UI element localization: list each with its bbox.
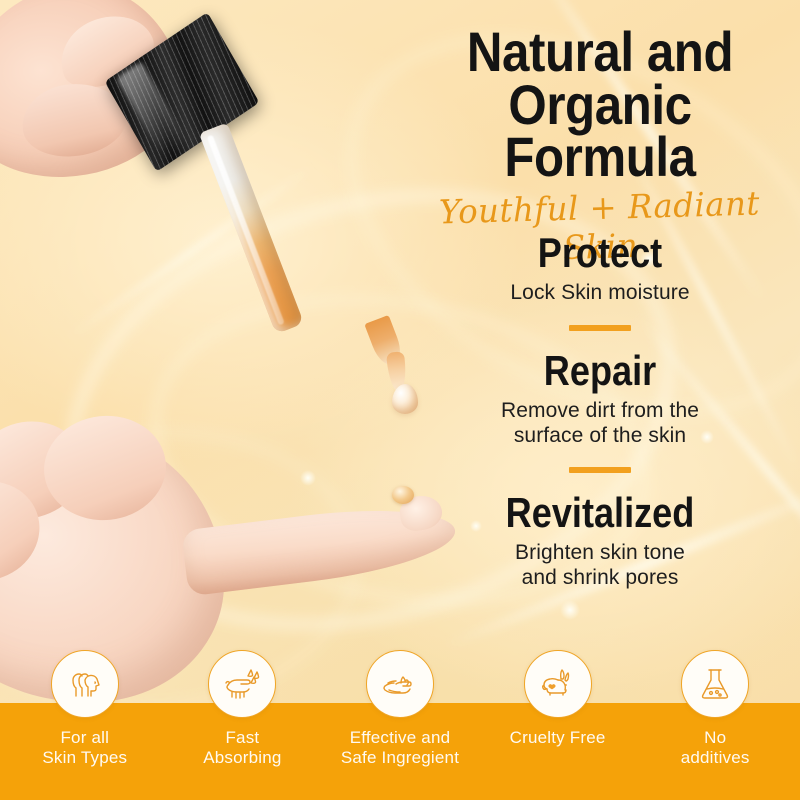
hand-with-cream-icon <box>379 663 421 705</box>
badge-icon-circle <box>366 650 434 718</box>
benefits-list: Protect Lock Skin moisture Repair Remove… <box>400 232 800 591</box>
benefit-title: Protect <box>428 232 772 274</box>
badge-label-line-1: Effective and <box>350 728 451 747</box>
benefit-item-repair: Repair Remove dirt from the surface of t… <box>400 350 800 449</box>
hand-with-droplets-icon <box>221 663 263 705</box>
badge-label-line-2: Skin Types <box>42 748 127 767</box>
feature-badges-row: For all Skin Types Fast Absorbing <box>0 650 800 800</box>
badge-label-line-1: Cruelty Free <box>510 728 606 747</box>
page-title: Natural and Organic Formula <box>424 0 776 184</box>
badge-label-line-2: Absorbing <box>203 748 281 767</box>
badge-label: For all Skin Types <box>10 728 160 767</box>
headline-line-2: Organic Formula <box>424 79 776 184</box>
badge-label: No additives <box>640 728 790 767</box>
badge-label: Fast Absorbing <box>167 728 317 767</box>
badge-fast-absorbing: Fast Absorbing <box>167 650 317 767</box>
badge-icon-circle <box>208 650 276 718</box>
badge-icon-circle <box>681 650 749 718</box>
benefit-description: Remove dirt from the surface of the skin <box>400 399 800 449</box>
dropper-glass-tube <box>199 123 304 334</box>
badge-icon-circle <box>524 650 592 718</box>
glass-highlight <box>207 135 285 326</box>
product-infographic-poster: Natural and Organic Formula Youthful + R… <box>0 0 800 800</box>
benefit-description: Lock Skin moisture <box>400 281 800 306</box>
badge-no-additives: No additives <box>640 650 790 767</box>
badge-label: Effective and Safe Ingregient <box>325 728 475 767</box>
badge-effective-safe-ingredient: Effective and Safe Ingregient <box>325 650 475 767</box>
rabbit-heart-icon <box>537 663 579 705</box>
benefit-desc-line-1: Brighten skin tone <box>515 541 685 564</box>
badge-icon-circle <box>51 650 119 718</box>
benefit-desc-line-1: Remove dirt from the <box>501 399 699 422</box>
badge-label: Cruelty Free <box>483 728 633 748</box>
benefit-description: Brighten skin tone and shrink pores <box>400 541 800 591</box>
headline-block: Natural and Organic Formula Youthful + R… <box>400 0 800 266</box>
benefit-desc-line-2: surface of the skin <box>514 424 686 447</box>
benefit-divider <box>569 467 631 473</box>
benefit-desc-line-2: and shrink pores <box>522 566 679 589</box>
benefit-title: Revitalized <box>428 492 772 534</box>
benefit-desc-line-1: Lock Skin moisture <box>510 281 689 304</box>
headline-line-1: Natural and <box>424 0 776 79</box>
badge-for-all-skin-types: For all Skin Types <box>10 650 160 767</box>
benefit-item-protect: Protect Lock Skin moisture <box>400 232 800 306</box>
three-face-profiles-icon <box>65 664 105 704</box>
badge-cruelty-free: Cruelty Free <box>483 650 633 748</box>
badge-label-line-2: additives <box>681 748 750 767</box>
badge-label-line-1: For all <box>60 728 109 747</box>
badge-label-line-2: Safe Ingregient <box>341 748 459 767</box>
benefit-divider <box>569 325 631 331</box>
flask-icon <box>696 664 734 704</box>
benefit-item-revitalized: Revitalized Brighten skin tone and shrin… <box>400 492 800 591</box>
badge-label-line-1: Fast <box>225 728 259 747</box>
benefit-title: Repair <box>428 350 772 392</box>
badge-label-line-1: No <box>704 728 726 747</box>
